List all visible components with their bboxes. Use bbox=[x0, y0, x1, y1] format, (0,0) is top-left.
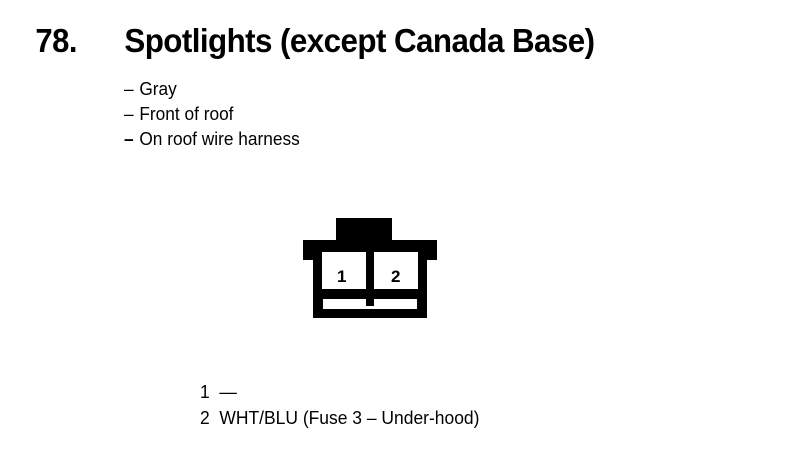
connector-wing-left bbox=[303, 252, 313, 260]
connector-flange bbox=[303, 240, 437, 252]
figure-number: 78. bbox=[35, 22, 77, 60]
connector-foot-notch bbox=[334, 309, 406, 318]
list-item: –Gray bbox=[124, 77, 604, 102]
pin-legend: 1— 2WHT/BLU (Fuse 3 – Under-hood) bbox=[200, 379, 488, 431]
connector-tab-slot bbox=[342, 225, 386, 231]
legend-row: 2WHT/BLU (Fuse 3 – Under-hood) bbox=[200, 405, 479, 431]
legend-row: 1— bbox=[200, 379, 479, 405]
cavity-number-1: 1 bbox=[337, 268, 346, 285]
figure-title-text: Spotlights (except Canada Base) bbox=[125, 22, 595, 60]
list-item-label: On roof wire harness bbox=[139, 129, 299, 149]
connector-symbol: 1 2 bbox=[296, 210, 444, 328]
description-list: –Gray –Front of roof –On roof wire harne… bbox=[124, 77, 624, 152]
legend-pin-number: 2 bbox=[200, 405, 219, 431]
legend-wire-label: WHT/BLU (Fuse 3 – Under-hood) bbox=[219, 408, 479, 428]
cavity-number-2: 2 bbox=[391, 268, 400, 285]
legend-pin-number: 1 bbox=[200, 379, 219, 405]
list-item-label: Gray bbox=[139, 79, 176, 99]
list-item: –Front of roof bbox=[124, 102, 604, 127]
bullet-dash: – bbox=[124, 102, 139, 127]
bullet-dash: – bbox=[124, 77, 139, 102]
list-item-label: Front of roof bbox=[139, 104, 233, 124]
connector-wing-right bbox=[427, 252, 437, 260]
bullet-dash: – bbox=[124, 127, 139, 152]
legend-wire-label: — bbox=[219, 382, 236, 402]
list-item: –On roof wire harness bbox=[124, 127, 604, 152]
connector-bottom-bar bbox=[313, 289, 427, 299]
page-title: 78. Spotlights (except Canada Base) bbox=[34, 22, 607, 60]
